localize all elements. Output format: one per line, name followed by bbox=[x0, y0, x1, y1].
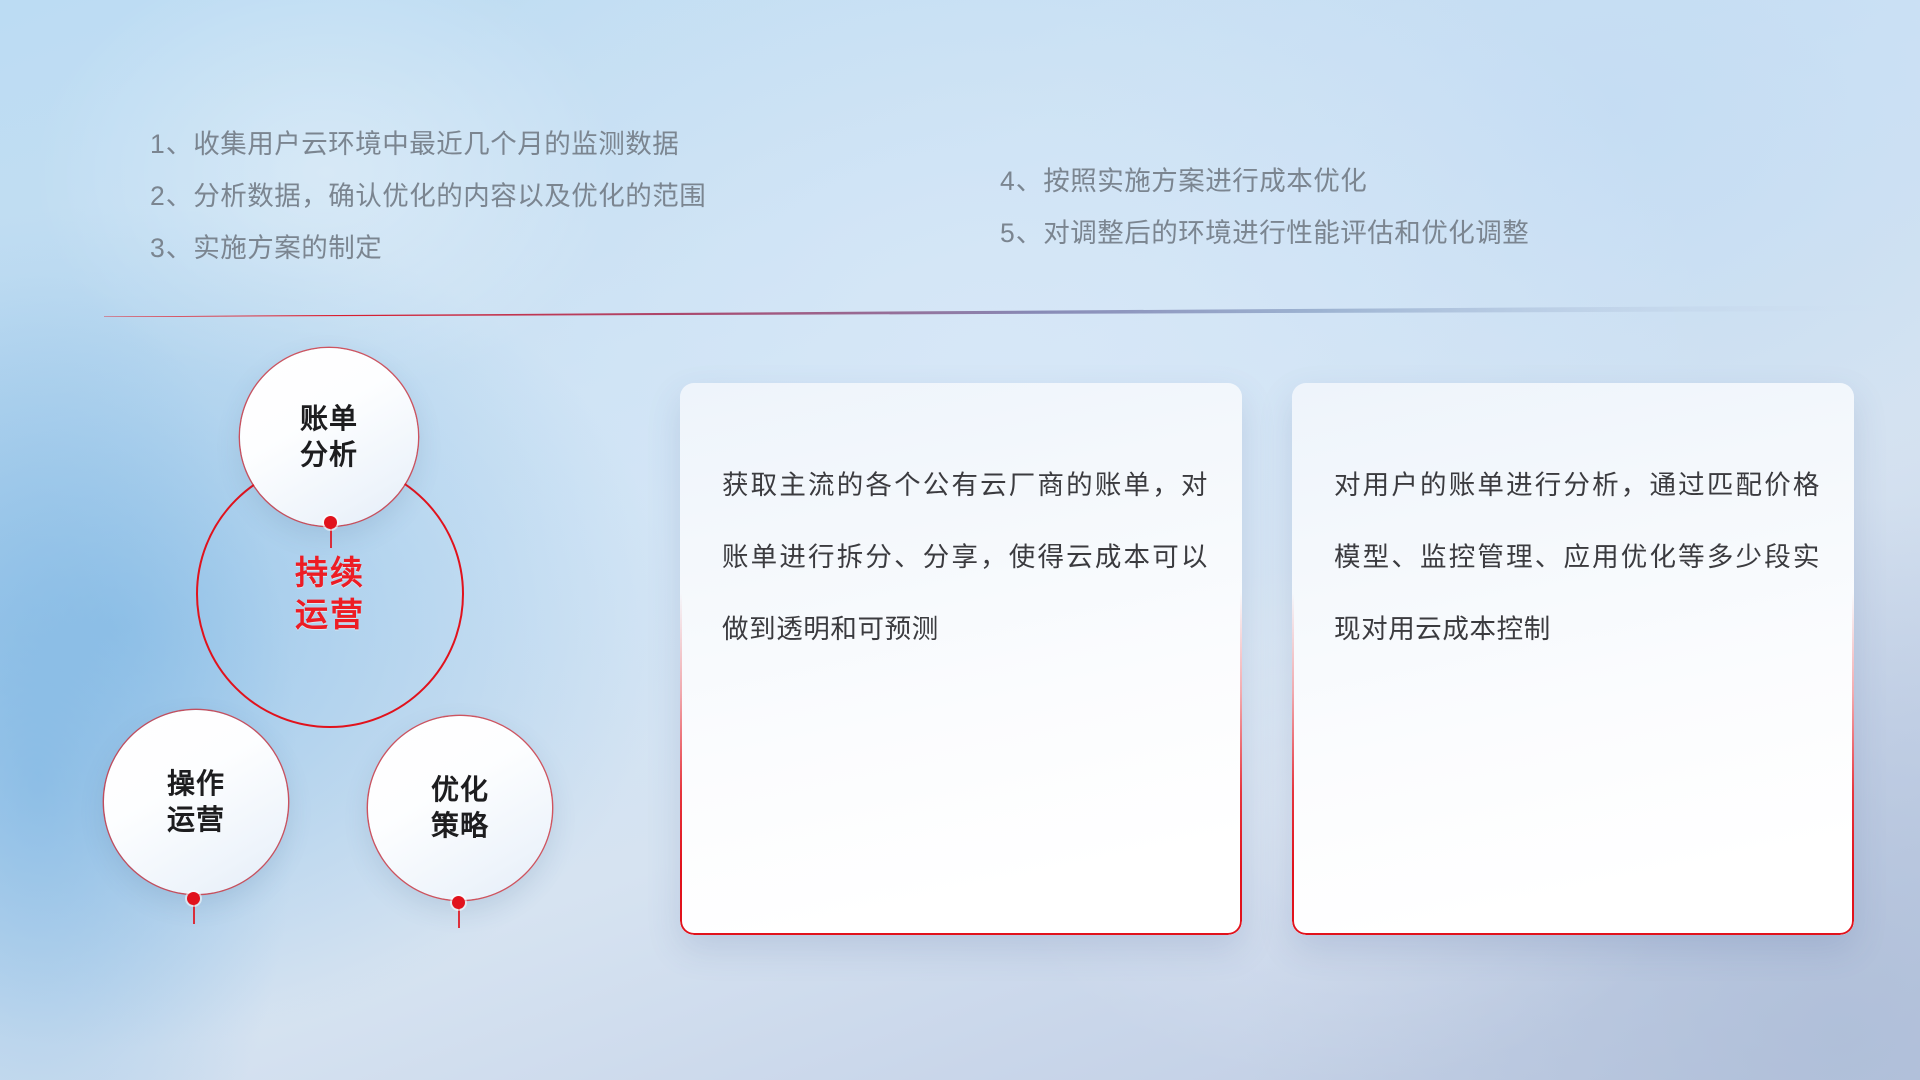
node-label-line2: 策略 bbox=[431, 808, 489, 844]
process-steps-right: 4、按照实施方案进行成本优化 5、对调整后的环境进行性能评估和优化调整 bbox=[1000, 155, 1529, 259]
step-text: 实施方案的制定 bbox=[193, 233, 382, 263]
node-label-line2: 运营 bbox=[167, 802, 225, 838]
node-connector-left bbox=[193, 902, 195, 924]
cycle-diagram: 账单 分析 操作 运营 优化 策略 持续 运营 bbox=[96, 348, 656, 938]
list-item: 3、实施方案的制定 bbox=[150, 222, 706, 274]
step-number: 5、 bbox=[1000, 218, 1043, 248]
center-label-line1: 持续 bbox=[295, 552, 365, 594]
node-label-line1: 优化 bbox=[431, 772, 489, 808]
step-text: 对调整后的环境进行性能评估和优化调整 bbox=[1043, 218, 1529, 248]
step-number: 2、 bbox=[150, 181, 193, 211]
slide-canvas: 1、收集用户云环境中最近几个月的监测数据 2、分析数据，确认优化的内容以及优化的… bbox=[0, 0, 1920, 1080]
step-text: 按照实施方案进行成本优化 bbox=[1043, 166, 1367, 196]
list-item: 2、分析数据，确认优化的内容以及优化的范围 bbox=[150, 170, 706, 222]
card-description: 获取主流的各个公有云厂商的账单，对账单进行拆分、分享，使得云成本可以做到透明和可… bbox=[722, 449, 1208, 665]
step-text: 收集用户云环境中最近几个月的监测数据 bbox=[193, 129, 679, 159]
list-item: 1、收集用户云环境中最近几个月的监测数据 bbox=[150, 118, 706, 170]
section-divider bbox=[104, 303, 1894, 317]
step-number: 1、 bbox=[150, 129, 193, 159]
card-description: 对用户的账单进行分析，通过匹配价格模型、监控管理、应用优化等多少段实现对用云成本… bbox=[1334, 449, 1820, 665]
node-dot-right bbox=[452, 896, 465, 909]
diagram-center-label: 持续 运营 bbox=[196, 460, 464, 728]
node-connector-top bbox=[330, 526, 332, 548]
step-number: 3、 bbox=[150, 233, 193, 263]
diagram-node-operations[interactable]: 操作 运营 bbox=[104, 710, 288, 894]
feature-card-multicloud-billing[interactable]: 获取主流的各个公有云厂商的账单，对账单进行拆分、分享，使得云成本可以做到透明和可… bbox=[680, 383, 1242, 935]
node-dot-left bbox=[187, 892, 200, 905]
list-item: 4、按照实施方案进行成本优化 bbox=[1000, 155, 1529, 207]
step-text: 分析数据，确认优化的内容以及优化的范围 bbox=[193, 181, 706, 211]
node-connector-right bbox=[458, 906, 460, 928]
step-number: 4、 bbox=[1000, 166, 1043, 196]
diagram-node-optimization-strategy[interactable]: 优化 策略 bbox=[368, 716, 552, 900]
center-label-line2: 运营 bbox=[295, 594, 365, 636]
node-label-line1: 操作 bbox=[167, 766, 225, 802]
node-label-line1: 账单 bbox=[300, 401, 358, 437]
process-steps-left: 1、收集用户云环境中最近几个月的监测数据 2、分析数据，确认优化的内容以及优化的… bbox=[150, 118, 706, 274]
list-item: 5、对调整后的环境进行性能评估和优化调整 bbox=[1000, 207, 1529, 259]
feature-card-cloud-cost-optimization[interactable]: 对用户的账单进行分析，通过匹配价格模型、监控管理、应用优化等多少段实现对用云成本… bbox=[1292, 383, 1854, 935]
node-dot-top bbox=[324, 516, 337, 529]
